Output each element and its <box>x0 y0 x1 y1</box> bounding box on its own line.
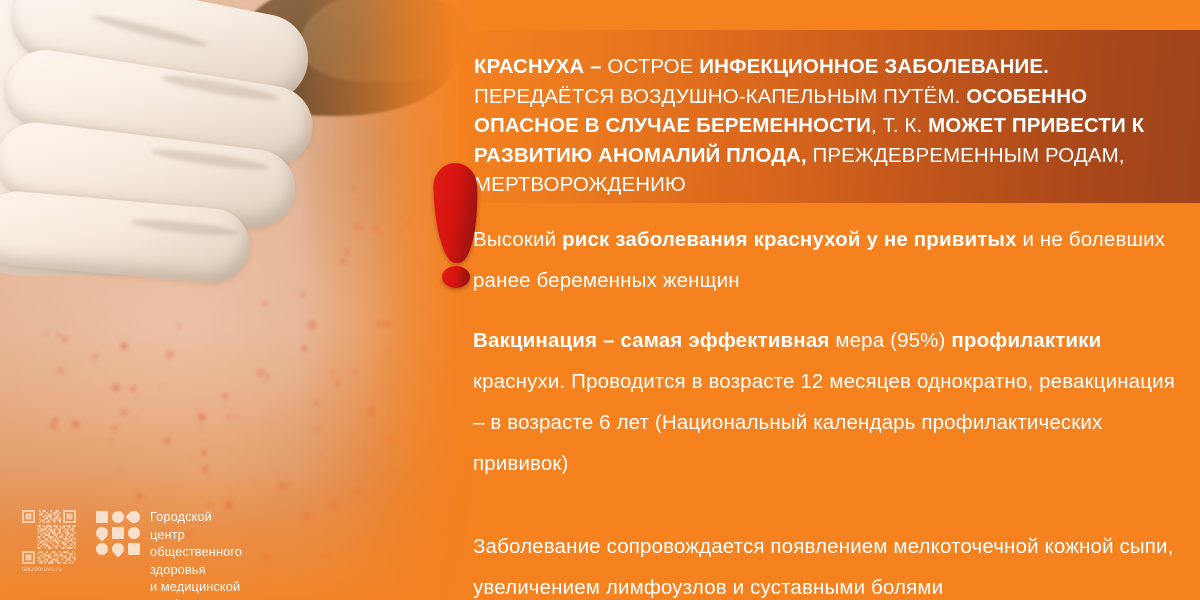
rash-photo <box>0 0 520 600</box>
logo-shape-square <box>112 527 124 539</box>
photo-edge-fade <box>0 0 520 600</box>
paragraph-vaccination: Вакцинация – самая эффективная мера (95%… <box>473 320 1185 484</box>
qr-caption: takzdorovo.ru <box>22 566 82 573</box>
poster-canvas: КРАСНУХА – ОСТРОЕ ИНФЕКЦИОННОЕ ЗАБОЛЕВАН… <box>0 0 1200 600</box>
logo-shape-circle <box>128 527 140 539</box>
logo-line-1: Городской центр <box>150 508 242 543</box>
logo-line-3: и медицинской профилактики <box>150 578 242 600</box>
logo-shape-circle <box>112 511 124 523</box>
logo-line-2: общественного здоровья <box>150 543 242 578</box>
body-copy: Высокий риск заболевания краснухой у не … <box>473 219 1185 600</box>
paragraph-risk: Высокий риск заболевания краснухой у не … <box>473 219 1185 301</box>
banner-text: КРАСНУХА – ОСТРОЕ ИНФЕКЦИОННОЕ ЗАБОЛЕВАН… <box>474 52 1166 200</box>
logo-shape-heart-left <box>110 541 127 558</box>
exclamation-dot <box>442 266 470 288</box>
logo-shape-heart-right <box>126 509 143 526</box>
qr-code-icon[interactable] <box>22 510 76 564</box>
logo-shape-heart-left <box>94 525 111 542</box>
header-banner: КРАСНУХА – ОСТРОЕ ИНФЕКЦИОННОЕ ЗАБОЛЕВАН… <box>458 30 1200 203</box>
paragraph-symptoms: Заболевание сопровождается появлением ме… <box>473 526 1185 600</box>
center-logo-mark <box>96 511 140 555</box>
logo-shape-circle <box>96 543 108 555</box>
logo-shape-square <box>128 543 140 555</box>
logo-organisation-name: Городской центр общественного здоровья и… <box>150 508 242 600</box>
logo-shape-square <box>96 511 108 523</box>
